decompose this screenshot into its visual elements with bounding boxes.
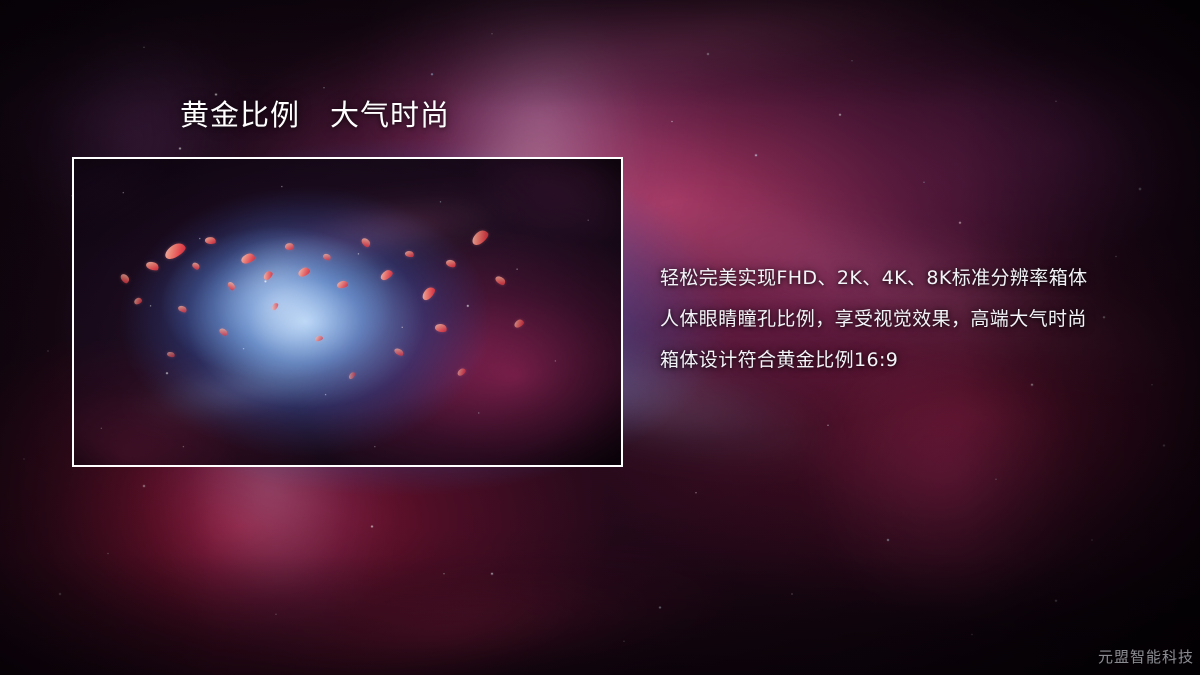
watermark-text: 元盟智能科技 (1098, 646, 1194, 667)
body-line-3: 箱体设计符合黄金比例16:9 (660, 340, 1180, 381)
body-line-2: 人体眼睛瞳孔比例，享受视觉效果，高端大气时尚 (660, 299, 1180, 340)
preview-image-frame (72, 157, 623, 467)
preview-vignette (74, 159, 621, 465)
preview-image (74, 159, 621, 465)
body-line-1: 轻松完美实现FHD、2K、4K、8K标准分辨率箱体 (660, 258, 1180, 299)
page-title: 黄金比例 大气时尚 (180, 100, 450, 132)
body-paragraph: 轻松完美实现FHD、2K、4K、8K标准分辨率箱体 人体眼睛瞳孔比例，享受视觉效… (660, 258, 1180, 381)
presentation-slide: 黄金比例 大气时尚 轻松完美实现FHD、2K、4K、8K标准分辨率箱体 人体眼睛… (0, 0, 1200, 675)
